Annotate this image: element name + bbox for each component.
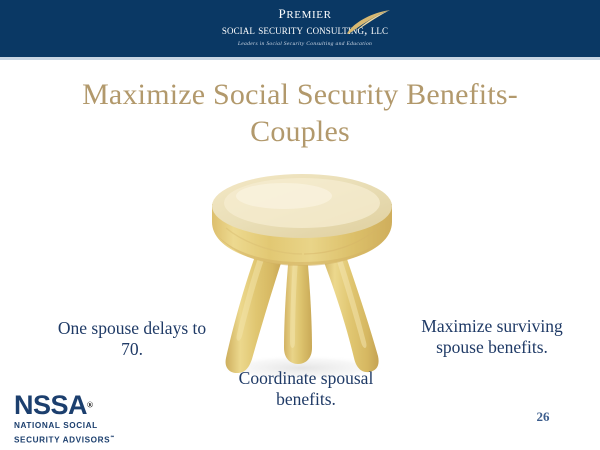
nssa-subtitle-line2-row: SECURITY ADVISORS℠ [14, 433, 124, 445]
premier-logo-line2: Social Security Consulting, LLC [190, 23, 420, 37]
premier-logo: Premier Social Security Consulting, LLC … [190, 5, 420, 55]
service-mark-icon: ℠ [110, 435, 115, 440]
nssa-acronym-row: NSSA® [14, 392, 124, 419]
caption-one-spouse-delays: One spouse delays to 70. [52, 318, 212, 360]
caption-coordinate-spousal: Coordinate spousal benefits. [216, 368, 396, 410]
three-legged-stool-image [196, 162, 408, 384]
header-divider-rule [0, 57, 600, 60]
nssa-subtitle-line2: SECURITY ADVISORS [14, 435, 110, 444]
nssa-acronym: NSSA [14, 392, 87, 419]
page-title: Maximize Social Security Benefits-Couple… [45, 76, 555, 150]
premier-logo-tagline: Leaders in Social Security Consulting an… [190, 41, 420, 47]
nssa-logo: NSSA® NATIONAL SOCIAL SECURITY ADVISORS℠ [14, 392, 124, 445]
stool-illustration-svg [196, 162, 408, 384]
presentation-slide: Premier Social Security Consulting, LLC … [0, 0, 600, 450]
nssa-subtitle-line1: NATIONAL SOCIAL [14, 421, 124, 431]
premier-logo-line1: Premier [190, 5, 420, 22]
page-number: 26 [528, 409, 558, 425]
registered-trademark-icon: ® [87, 401, 93, 410]
caption-maximize-surviving: Maximize surviving spouse benefits. [404, 316, 580, 358]
